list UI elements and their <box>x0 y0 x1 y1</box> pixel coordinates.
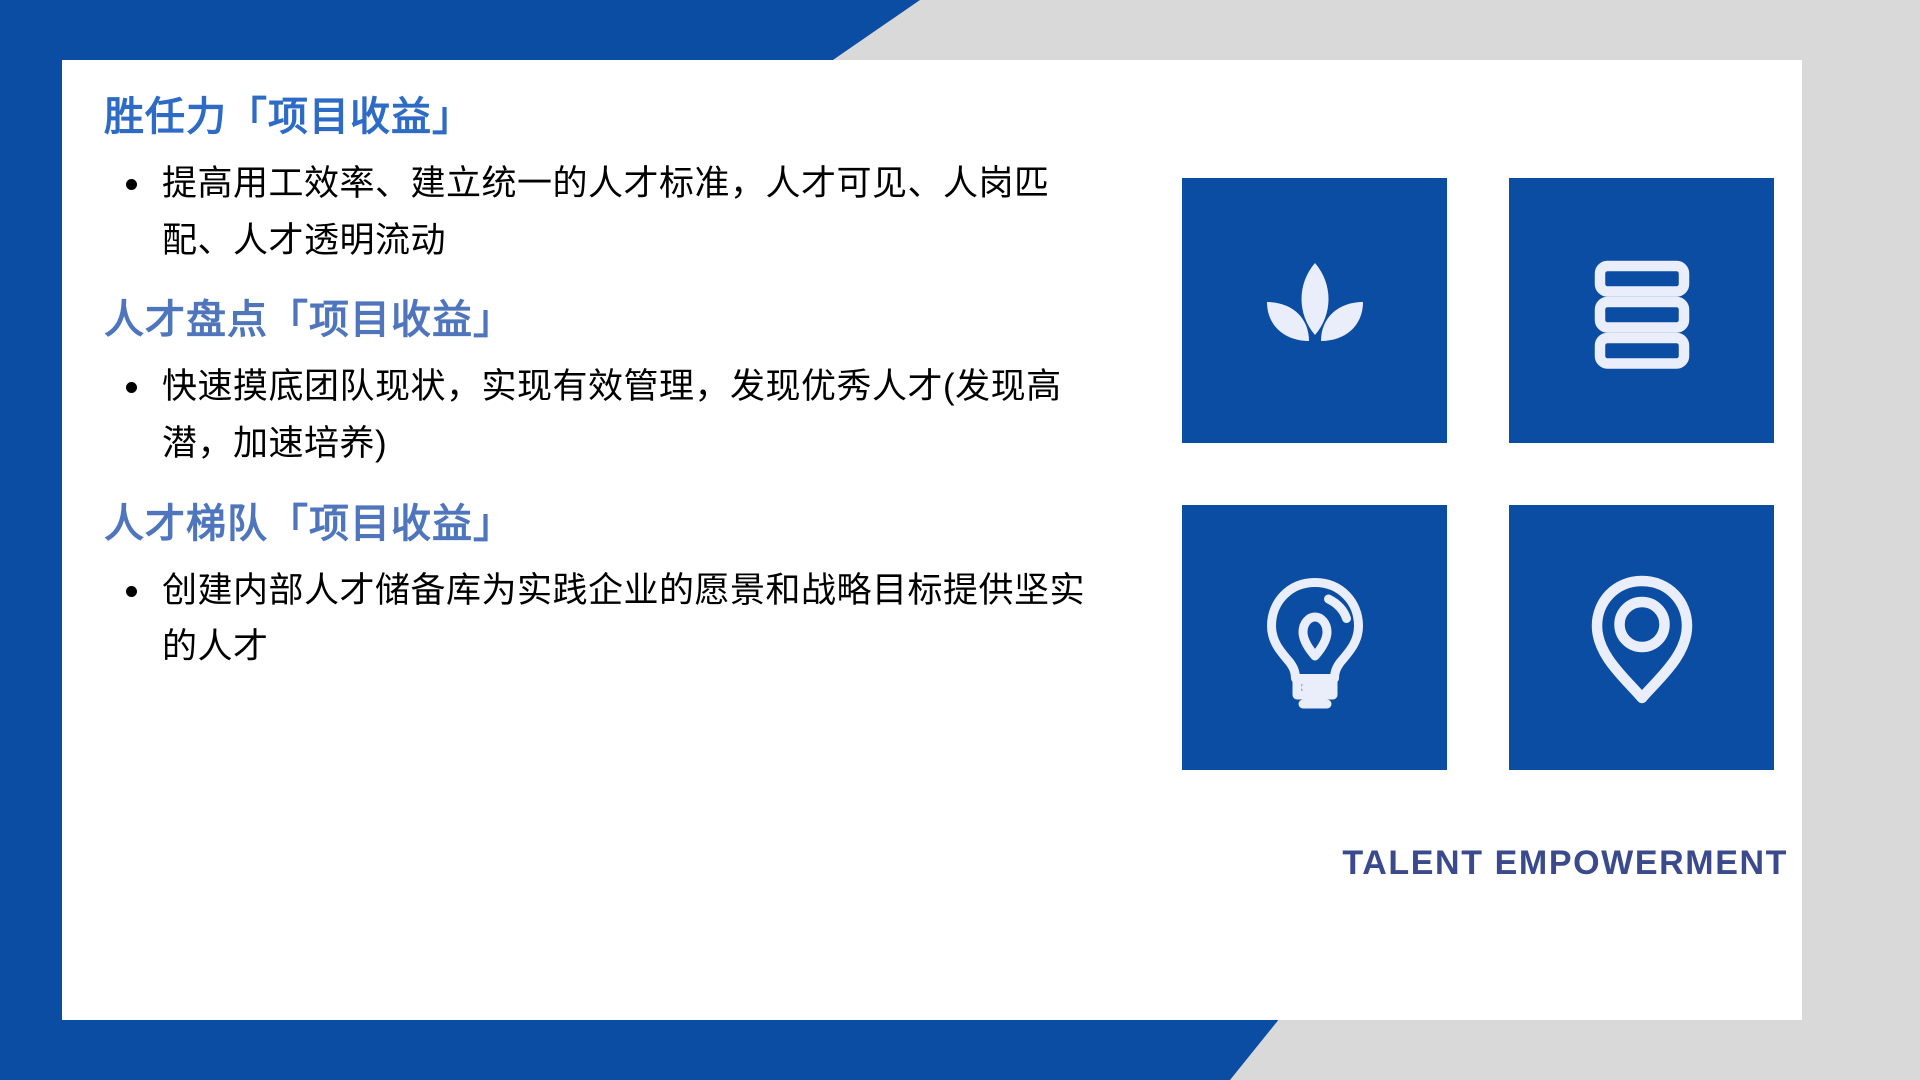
section-title-3: 人才梯队「项目收益」 <box>104 499 1144 549</box>
bullet-item: 提高用工效率、建立统一的人才标准，人才可见、人岗匹配、人才透明流动 <box>104 156 1102 269</box>
slide-root: 胜任力「项目收益」 提高用工效率、建立统一的人才标准，人才可见、人岗匹配、人才透… <box>0 0 1920 1080</box>
icon-tile-list-bars <box>1509 178 1774 443</box>
section-bullets-3: 创建内部人才储备库为实践企业的愿景和战略目标提供坚实的人才 <box>104 563 1144 676</box>
section-title-2: 人才盘点「项目收益」 <box>104 295 1144 345</box>
slide-content: 胜任力「项目收益」 提高用工效率、建立统一的人才标准，人才可见、人岗匹配、人才透… <box>62 60 1802 1020</box>
icon-tile-map-pin <box>1509 505 1774 770</box>
section-block-2: 人才盘点「项目收益」 快速摸底团队现状，实现有效管理，发现优秀人才(发现高潜，加… <box>104 295 1144 472</box>
section-bullets-2: 快速摸底团队现状，实现有效管理，发现优秀人才(发现高潜，加速培养) <box>104 359 1144 472</box>
section-block-1: 胜任力「项目收益」 提高用工效率、建立统一的人才标准，人才可见、人岗匹配、人才透… <box>104 92 1144 269</box>
icon-column: TALENT EMPOWERMENT <box>1182 178 1792 883</box>
bullet-dot-icon <box>126 179 137 190</box>
tagline-text: TALENT EMPOWERMENT <box>1182 844 1792 883</box>
bullet-dot-icon <box>126 382 137 393</box>
bullet-text: 创建内部人才储备库为实践企业的愿景和战略目标提供坚实的人才 <box>162 571 1085 667</box>
lightbulb-icon <box>1240 563 1390 713</box>
list-bars-icon <box>1567 236 1717 386</box>
bullet-item: 创建内部人才储备库为实践企业的愿景和战略目标提供坚实的人才 <box>104 563 1102 676</box>
icon-tile-lightbulb <box>1182 505 1447 770</box>
section-title-1: 胜任力「项目收益」 <box>104 92 1144 142</box>
sprout-icon <box>1240 236 1390 386</box>
bullet-item: 快速摸底团队现状，实现有效管理，发现优秀人才(发现高潜，加速培养) <box>104 359 1102 472</box>
icon-grid <box>1182 178 1792 770</box>
bullet-text: 提高用工效率、建立统一的人才标准，人才可见、人岗匹配、人才透明流动 <box>162 164 1050 260</box>
text-column: 胜任力「项目收益」 提高用工效率、建立统一的人才标准，人才可见、人岗匹配、人才透… <box>104 92 1144 676</box>
section-block-3: 人才梯队「项目收益」 创建内部人才储备库为实践企业的愿景和战略目标提供坚实的人才 <box>104 499 1144 676</box>
bullet-text: 快速摸底团队现状，实现有效管理，发现优秀人才(发现高潜，加速培养) <box>162 367 1062 463</box>
section-bullets-1: 提高用工效率、建立统一的人才标准，人才可见、人岗匹配、人才透明流动 <box>104 156 1144 269</box>
bullet-dot-icon <box>126 586 137 597</box>
white-content-card: 胜任力「项目收益」 提高用工效率、建立统一的人才标准，人才可见、人岗匹配、人才透… <box>62 60 1802 1020</box>
map-pin-icon <box>1567 563 1717 713</box>
icon-tile-sprout <box>1182 178 1447 443</box>
